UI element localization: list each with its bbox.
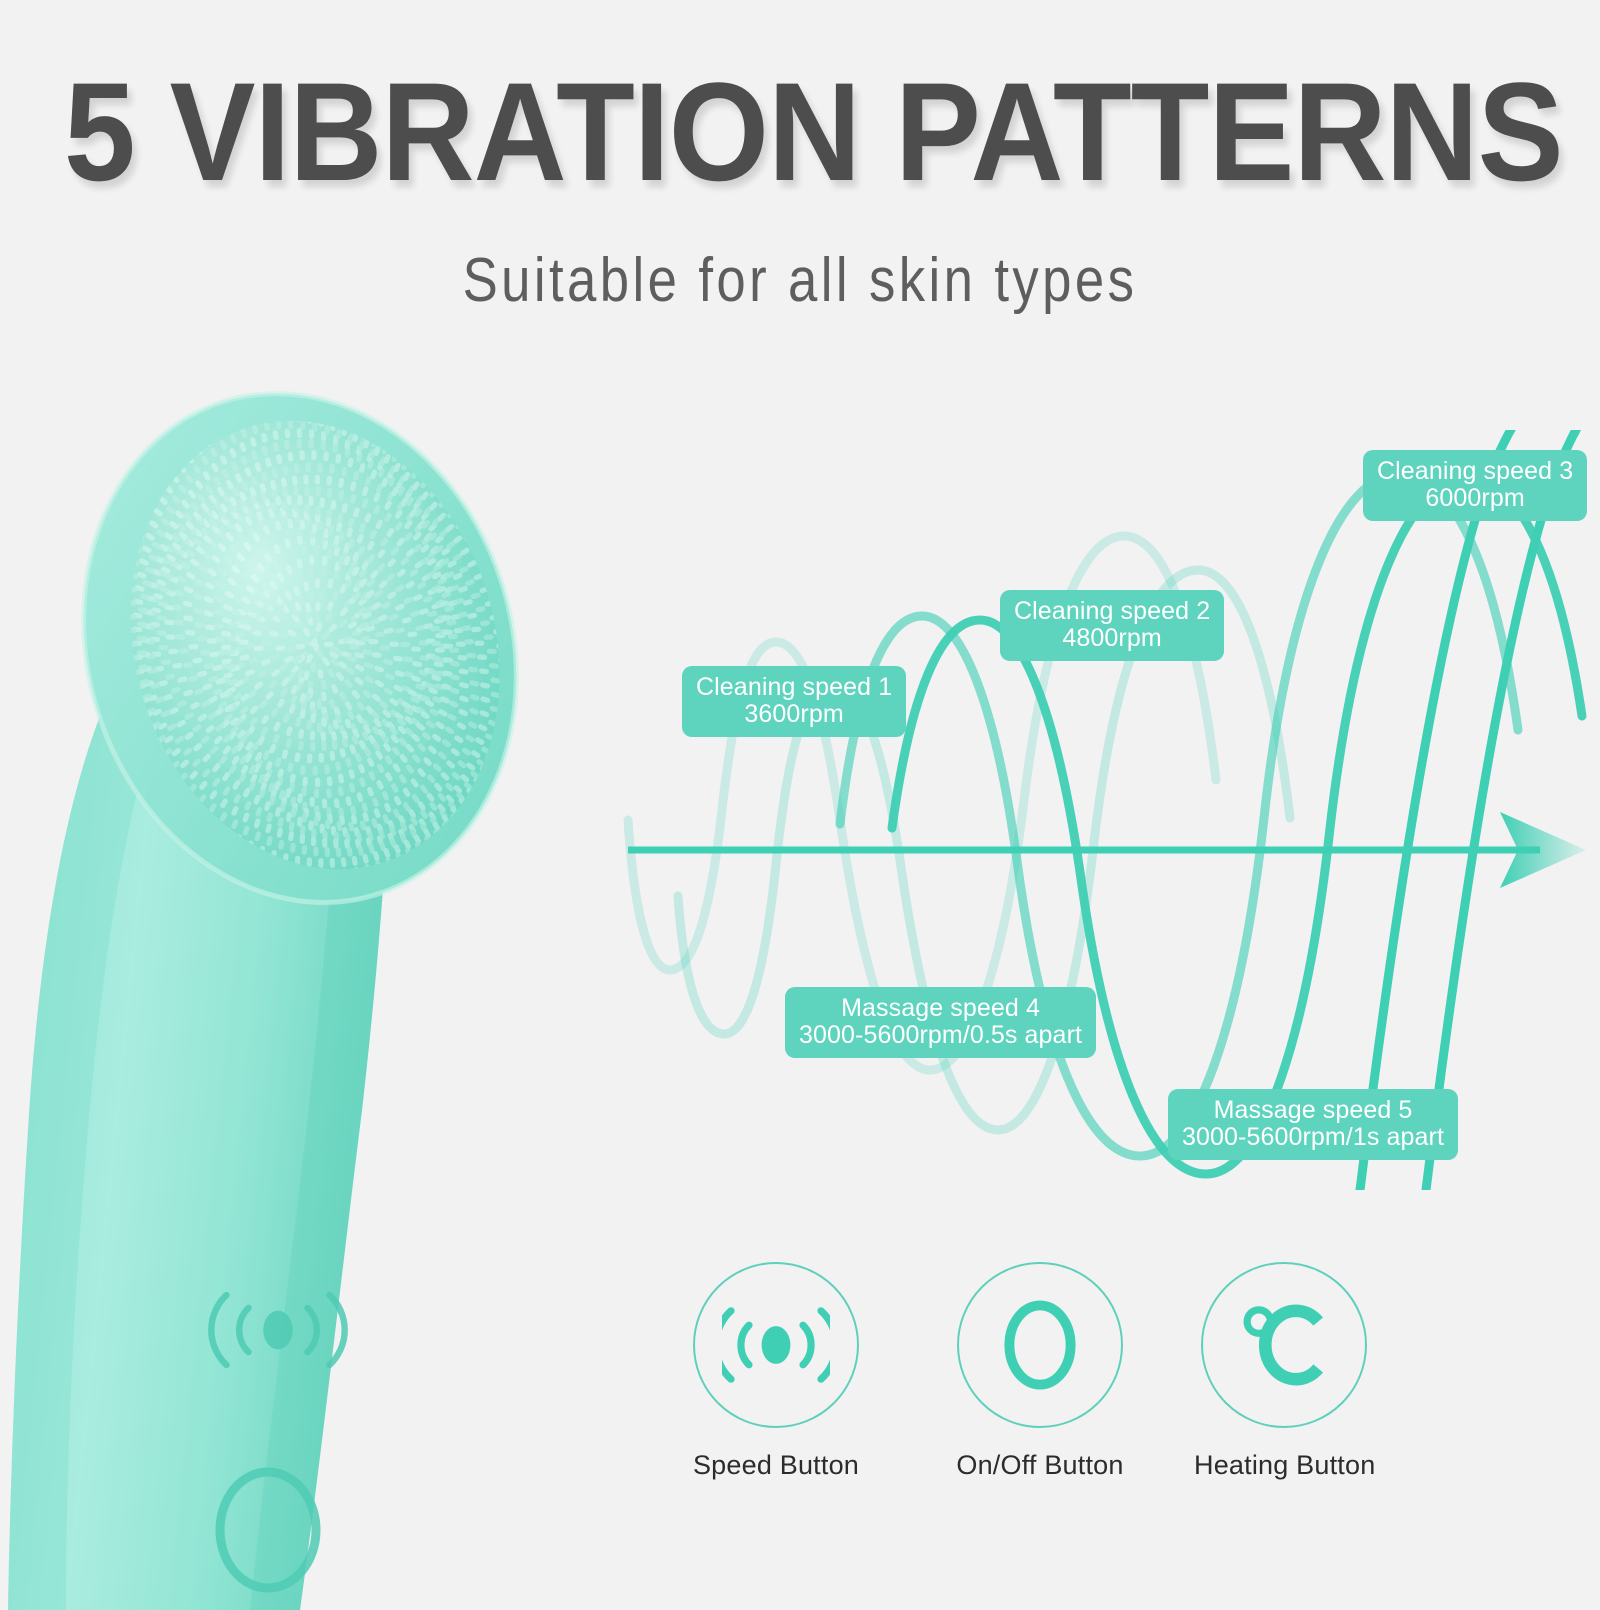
badge-massage-speed-5: Massage speed 5 3000-5600rpm/1s apart (1168, 1089, 1458, 1160)
badge-cleaning-speed-1: Cleaning speed 1 3600rpm (682, 666, 906, 737)
button-legend: Speed Button On/Off Button Heating Butto… (670, 1262, 1390, 1552)
page-title-text: 5 VIBRATION PATTERNS (64, 53, 1563, 210)
badge-line-2: 6000rpm (1377, 485, 1573, 512)
badge-line-2: 4800rpm (1014, 625, 1210, 652)
page-subtitle-text: Suitable for all skin types (463, 246, 1138, 315)
legend-speed-button[interactable]: Speed Button (686, 1262, 866, 1481)
celsius-degree-icon (1230, 1291, 1338, 1399)
badge-line-1: Cleaning speed 1 (696, 674, 892, 701)
badge-line-1: Cleaning speed 3 (1377, 458, 1573, 485)
legend-onoff-button[interactable]: On/Off Button (950, 1262, 1130, 1481)
badge-cleaning-speed-2: Cleaning speed 2 4800rpm (1000, 590, 1224, 661)
badge-cleaning-speed-3: Cleaning speed 3 6000rpm (1363, 450, 1587, 521)
badge-line-1: Massage speed 5 (1182, 1097, 1444, 1124)
badge-massage-speed-4: Massage speed 4 3000-5600rpm/0.5s apart (785, 987, 1096, 1058)
infographic-canvas: 5 VIBRATION PATTERNS Suitable for all sk… (0, 0, 1600, 1600)
speed-button-label: Speed Button (686, 1450, 866, 1481)
badge-line-2: 3000-5600rpm/0.5s apart (799, 1022, 1082, 1049)
heating-button-circle[interactable] (1201, 1262, 1367, 1428)
badge-line-1: Massage speed 4 (799, 995, 1082, 1022)
badge-line-1: Cleaning speed 2 (1014, 598, 1210, 625)
vibration-wave-chart (600, 430, 1600, 1190)
heating-button-label: Heating Button (1194, 1450, 1374, 1481)
page-subtitle: Suitable for all skin types (120, 245, 1480, 316)
wave-cleaning-speed-3b (1426, 430, 1600, 1190)
product-device-image (0, 370, 630, 1610)
speed-button-circle[interactable] (693, 1262, 859, 1428)
badge-line-2: 3000-5600rpm/1s apart (1182, 1124, 1444, 1151)
onoff-button-circle[interactable] (957, 1262, 1123, 1428)
power-ring-icon (986, 1291, 1094, 1399)
badge-line-2: 3600rpm (696, 701, 892, 728)
onoff-button-label: On/Off Button (950, 1450, 1130, 1481)
page-title: 5 VIBRATION PATTERNS (64, 62, 1536, 202)
vibration-waves-icon (722, 1291, 830, 1399)
legend-heating-button[interactable]: Heating Button (1194, 1262, 1374, 1481)
